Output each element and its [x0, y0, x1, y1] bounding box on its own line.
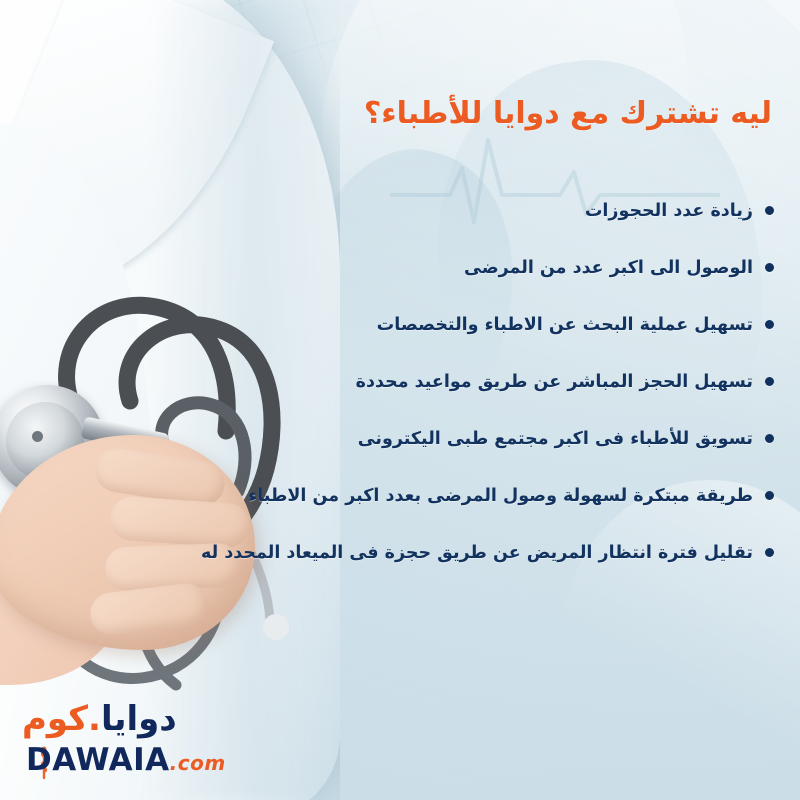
- logo-latin-name: DAWAIA: [26, 742, 170, 778]
- logo-arabic-name: دوايا: [101, 699, 177, 739]
- benefits-list: زيادة عدد الحجوزات الوصول الى اكبر عدد م…: [14, 182, 774, 581]
- list-item: الوصول الى اكبر عدد من المرضى: [14, 239, 774, 296]
- bullet-dot-icon: [765, 548, 774, 557]
- list-item-label: تسهيل الحجز المباشر عن طريق مواعيد محددة: [356, 372, 753, 392]
- poster: ليه تشترك مع دوايا للأطباء؟ زيادة عدد ال…: [0, 0, 800, 800]
- list-item-label: زيادة عدد الحجوزات: [585, 201, 753, 221]
- bullet-dot-icon: [765, 263, 774, 272]
- logo-latin-tld: .com: [170, 751, 226, 775]
- brand-logo[interactable]: دوايا.كوم DAWAIA.com: [18, 702, 248, 788]
- list-item-label: الوصول الى اكبر عدد من المرضى: [464, 258, 753, 278]
- list-item: تسهيل الحجز المباشر عن طريق مواعيد محددة: [14, 353, 774, 410]
- bullet-dot-icon: [765, 434, 774, 443]
- bullet-dot-icon: [765, 377, 774, 386]
- list-item-label: تسويق للأطباء فى اكبر مجتمع طبى اليكترون…: [358, 429, 753, 449]
- list-item-label: تقليل فترة انتظار المريض عن طريق حجزة فى…: [201, 543, 753, 563]
- bullet-dot-icon: [765, 206, 774, 215]
- list-item: تسهيل عملية البحث عن الاطباء والتخصصات: [14, 296, 774, 353]
- bullet-dot-icon: [765, 320, 774, 329]
- list-item: تسويق للأطباء فى اكبر مجتمع طبى اليكترون…: [14, 410, 774, 467]
- page-title: ليه تشترك مع دوايا للأطباء؟: [252, 96, 772, 131]
- list-item: طريقة مبتكرة لسهولة وصول المرضى بعدد اكب…: [14, 467, 774, 524]
- list-item: تقليل فترة انتظار المريض عن طريق حجزة فى…: [14, 524, 774, 581]
- logo-latin: DAWAIA.com: [26, 742, 226, 778]
- list-item-label: تسهيل عملية البحث عن الاطباء والتخصصات: [377, 315, 753, 335]
- bullet-dot-icon: [765, 491, 774, 500]
- list-item: زيادة عدد الحجوزات: [14, 182, 774, 239]
- list-item-label: طريقة مبتكرة لسهولة وصول المرضى بعدد اكب…: [248, 486, 753, 506]
- logo-arabic: دوايا.كوم: [22, 702, 242, 738]
- logo-arabic-tld: .كوم: [22, 699, 101, 739]
